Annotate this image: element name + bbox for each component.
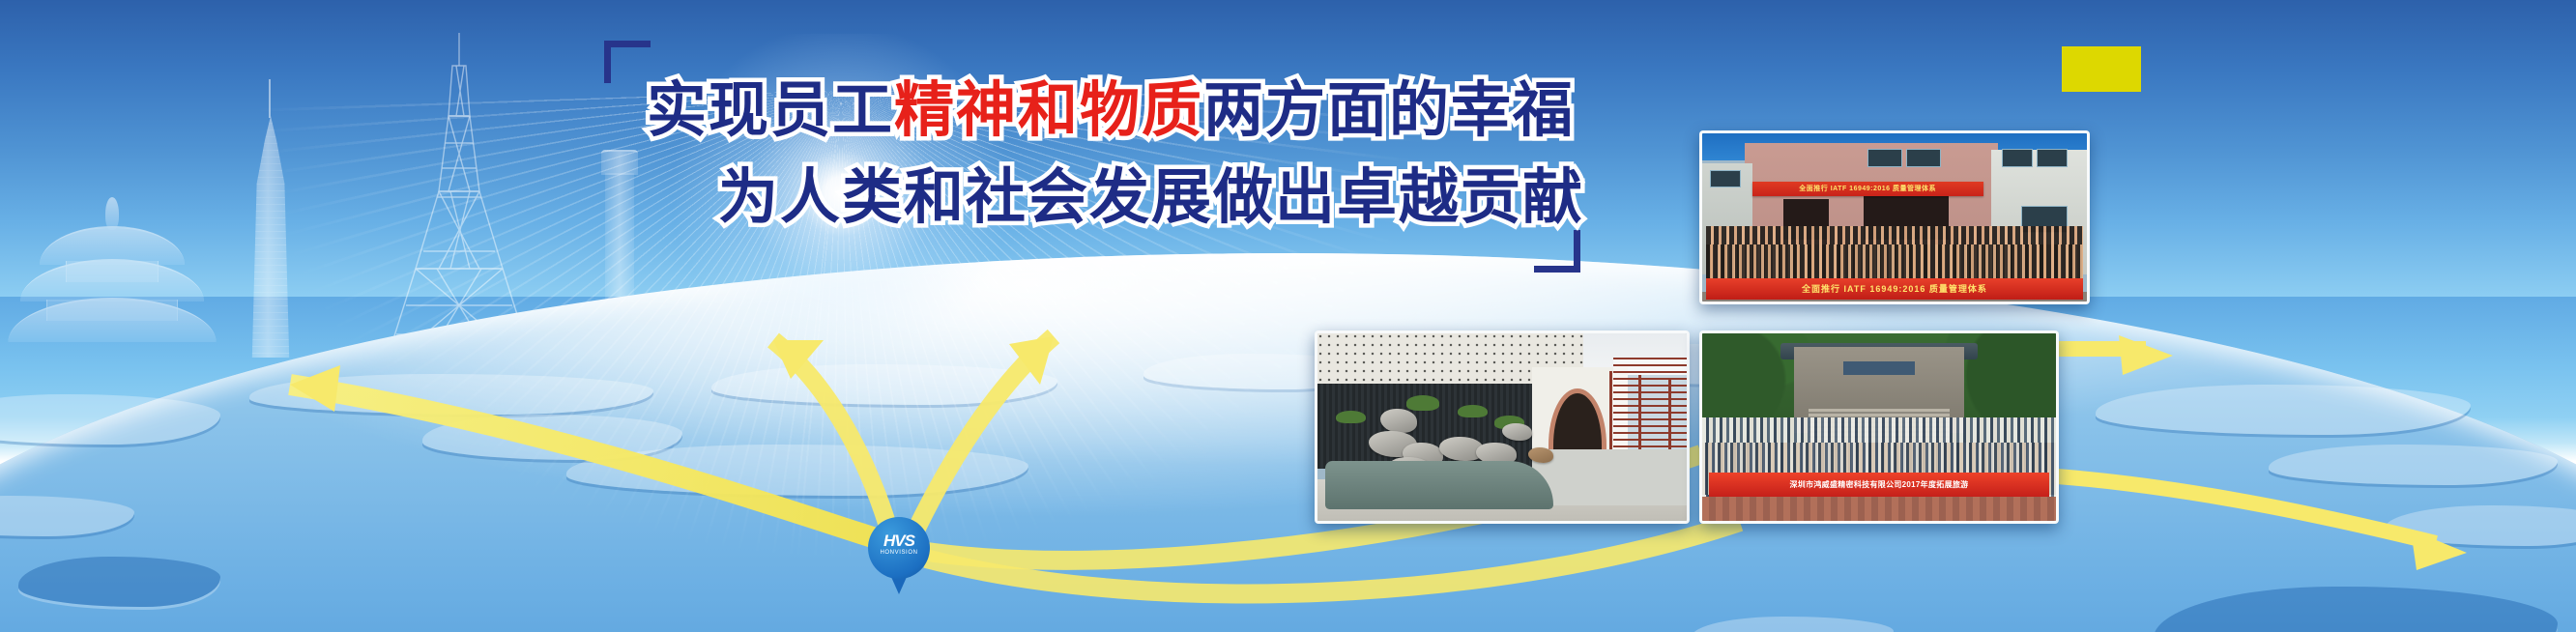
photo-company-outing[interactable]: 深圳市鸿威盛精密科技有限公司2017年度拓展旅游 bbox=[1699, 330, 2059, 524]
bracket-top-left-icon bbox=[604, 41, 651, 83]
photo-factory-group[interactable]: 全面推行 IATF 16949:2016 质量管理体系 全面推行 IATF 16… bbox=[1699, 130, 2090, 304]
temple-of-heaven-icon bbox=[8, 193, 216, 348]
photo-garden-courtyard[interactable] bbox=[1315, 330, 1690, 524]
factory-front-banner: 全面推行 IATF 16949:2016 质量管理体系 bbox=[1706, 278, 2083, 301]
factory-wall-banner: 全面推行 IATF 16949:2016 质量管理体系 bbox=[1752, 182, 1983, 197]
outing-banner: 深圳市鸿威盛精密科技有限公司2017年度拓展旅游 bbox=[1709, 473, 2048, 497]
slogan-line-2: 为人类和社会发展做出卓越贡献 bbox=[718, 166, 1584, 229]
slogan-line-1-seg-1: 实现员工 bbox=[647, 77, 894, 144]
bracket-bottom-right-icon bbox=[1534, 230, 1580, 273]
honvision-map-pin-logo[interactable]: HVS HONVISION bbox=[868, 517, 930, 596]
jin-mao-tower-icon bbox=[232, 77, 309, 358]
logo-wordmark: HONVISION bbox=[868, 550, 930, 556]
slogan-line-1: 实现员工精神和物质两方面的幸福 bbox=[647, 79, 1575, 142]
company-culture-banner: 实现员工精神和物质两方面的幸福 为人类和社会发展做出卓越贡献 全面推行 IATF… bbox=[0, 0, 2576, 632]
photo-garden-courtyard-image bbox=[1317, 333, 1687, 521]
logo-mark: HVS bbox=[868, 532, 930, 549]
photo-company-outing-image: 深圳市鸿威盛精密科技有限公司2017年度拓展旅游 bbox=[1702, 333, 2056, 521]
yellow-accent-block bbox=[2062, 46, 2141, 92]
eiffel-tower-icon bbox=[377, 27, 541, 346]
slogan-line-1-seg-3: 两方面的幸福 bbox=[1203, 77, 1575, 144]
photo-factory-group-image: 全面推行 IATF 16949:2016 质量管理体系 全面推行 IATF 16… bbox=[1702, 133, 2087, 302]
slogan-line-1-seg-2: 精神和物质 bbox=[894, 77, 1203, 144]
slogan-block: 实现员工精神和物质两方面的幸福 为人类和社会发展做出卓越贡献 bbox=[604, 41, 1580, 273]
